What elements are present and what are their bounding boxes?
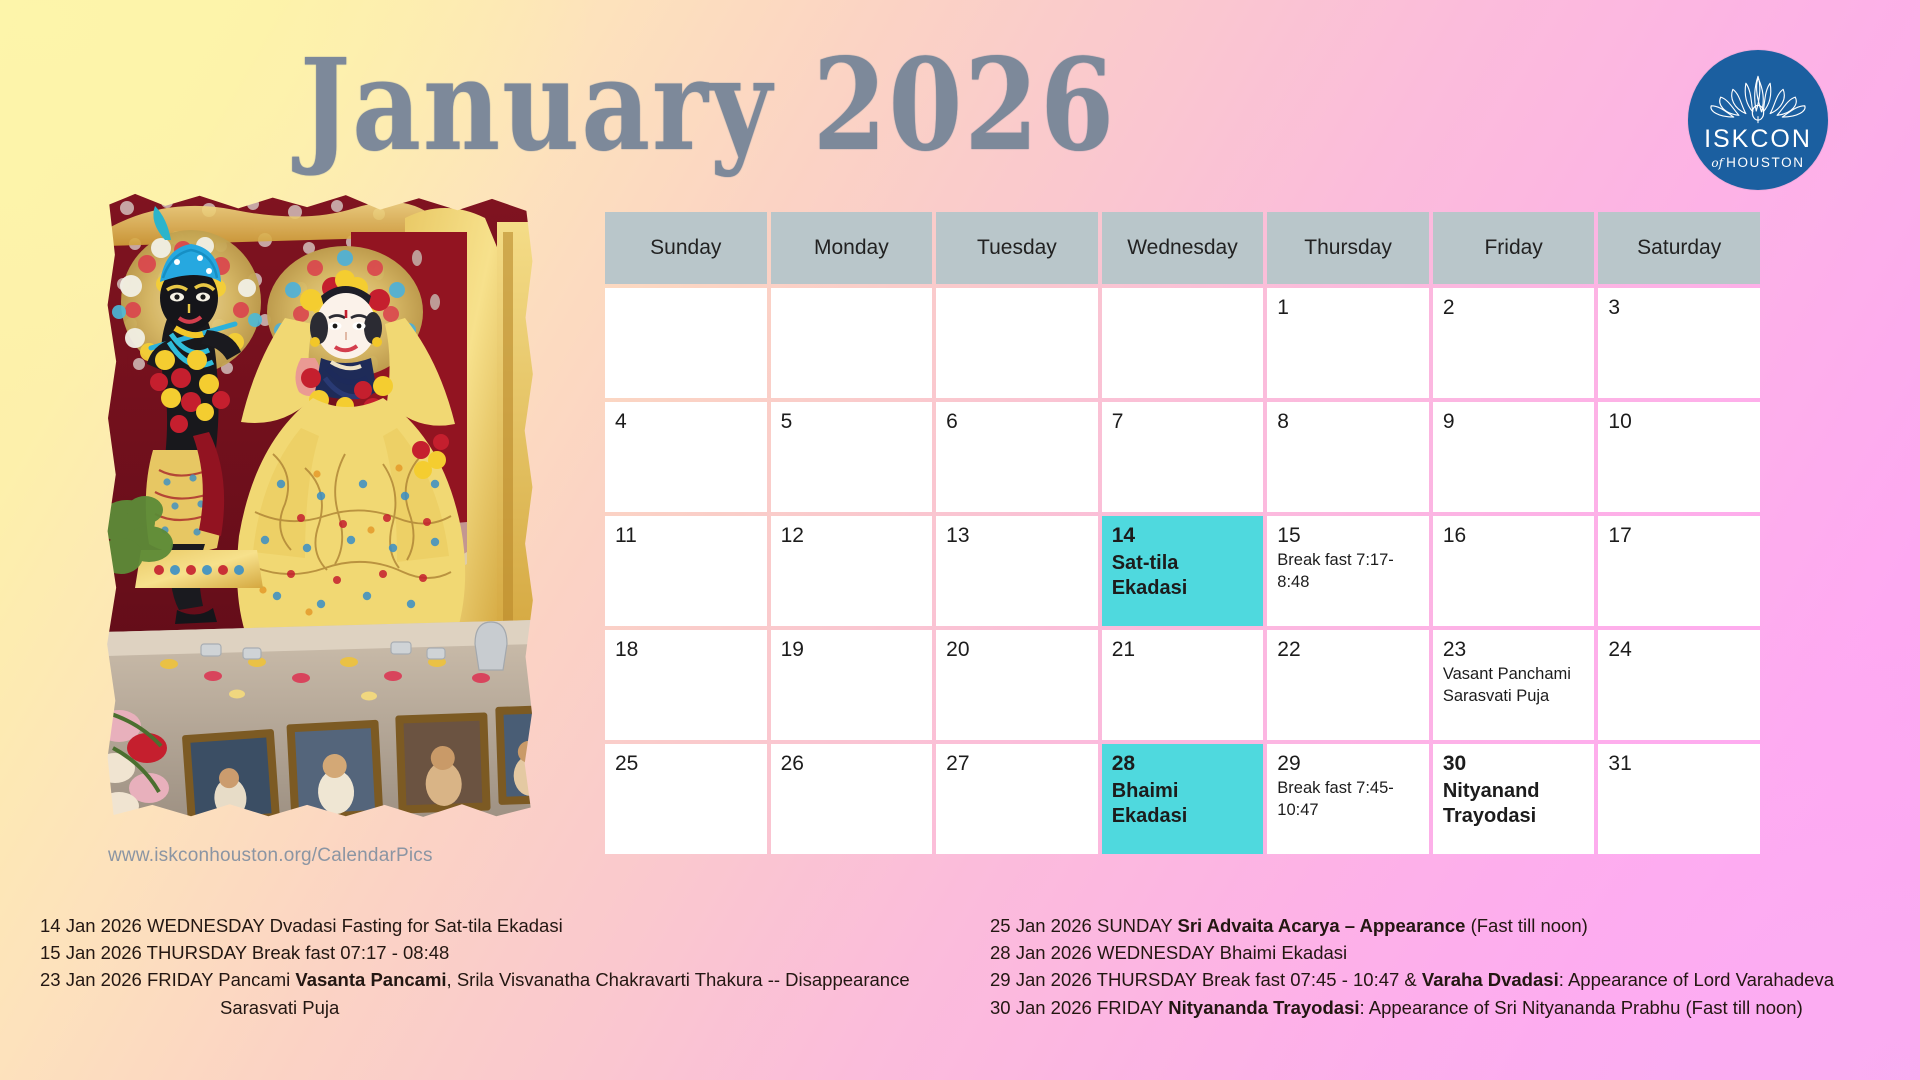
calendar-day-empty <box>1102 288 1264 398</box>
logo-brand-text: ISKCON <box>1704 127 1812 152</box>
iskcon-logo: ISKCON of HOUSTON <box>1688 50 1828 190</box>
note-line-left-3: 23 Jan 2026 FRIDAY Pancami Vasanta Panca… <box>40 966 950 993</box>
logo-of-text: of <box>1711 157 1723 169</box>
calendar-body: 1234567891011121314Sat-tilaEkadasi15Brea… <box>605 288 1760 854</box>
day-number: 9 <box>1443 410 1585 435</box>
calendar-day-4[interactable]: 4 <box>605 402 767 512</box>
calendar-day-empty <box>936 288 1098 398</box>
calendar-header-row: SundayMondayTuesdayWednesdayThursdayFrid… <box>605 212 1760 284</box>
lotus-icon <box>1706 71 1810 125</box>
calendar-day-5[interactable]: 5 <box>771 402 933 512</box>
day-event-text: NityanandTrayodasi <box>1443 779 1585 830</box>
day-number: 8 <box>1277 410 1419 435</box>
note-line-left-2: 15 Jan 2026 THURSDAY Break fast 07:17 - … <box>40 939 950 966</box>
calendar-week-row: 181920212223Vasant PanchamiSarasvati Puj… <box>605 630 1760 740</box>
day-number: 6 <box>946 410 1088 435</box>
calendar-day-6[interactable]: 6 <box>936 402 1098 512</box>
day-number: 12 <box>781 524 923 549</box>
calendar-day-1[interactable]: 1 <box>1267 288 1429 398</box>
day-number: 13 <box>946 524 1088 549</box>
notes-column-left: 14 Jan 2026 WEDNESDAY Dvadasi Fasting fo… <box>0 912 950 1021</box>
day-number: 26 <box>781 752 923 777</box>
day-number: 24 <box>1608 638 1750 663</box>
day-number: 31 <box>1608 752 1750 777</box>
calendar-day-17[interactable]: 17 <box>1598 516 1760 626</box>
day-number: 7 <box>1112 410 1254 435</box>
day-number: 28 <box>1112 752 1254 777</box>
day-number: 30 <box>1443 752 1585 777</box>
note-line-right-4: 30 Jan 2026 FRIDAY Nityananda Trayodasi:… <box>990 994 1920 1021</box>
day-number: 27 <box>946 752 1088 777</box>
calendar-day-10[interactable]: 10 <box>1598 402 1760 512</box>
day-number: 3 <box>1608 296 1750 321</box>
calendar-grid: SundayMondayTuesdayWednesdayThursdayFrid… <box>605 212 1760 858</box>
day-event-text: Vasant PanchamiSarasvati Puja <box>1443 664 1585 708</box>
day-event-text: Bhaimi Ekadasi <box>1112 779 1254 830</box>
calendar-day-26[interactable]: 26 <box>771 744 933 854</box>
calendar-day-15[interactable]: 15Break fast 7:17-8:48 <box>1267 516 1429 626</box>
logo-subtitle: of HOUSTON <box>1711 156 1804 170</box>
day-number: 14 <box>1112 524 1254 549</box>
calendar-day-empty <box>771 288 933 398</box>
calendar-day-2[interactable]: 2 <box>1433 288 1595 398</box>
note-line-right-2: 28 Jan 2026 WEDNESDAY Bhaimi Ekadasi <box>990 939 1920 966</box>
calendar-day-12[interactable]: 12 <box>771 516 933 626</box>
calendar-day-7[interactable]: 7 <box>1102 402 1264 512</box>
day-number: 17 <box>1608 524 1750 549</box>
weekday-header-wednesday: Wednesday <box>1102 212 1264 284</box>
deity-photo-image <box>105 192 535 820</box>
calendar-week-row: 25262728Bhaimi Ekadasi29Break fast 7:45-… <box>605 744 1760 854</box>
day-number: 29 <box>1277 752 1419 777</box>
calendar-day-20[interactable]: 20 <box>936 630 1098 740</box>
day-number: 5 <box>781 410 923 435</box>
day-number: 25 <box>615 752 757 777</box>
weekday-header-friday: Friday <box>1433 212 1595 284</box>
calendar-day-19[interactable]: 19 <box>771 630 933 740</box>
calendar-week-row: 11121314Sat-tilaEkadasi15Break fast 7:17… <box>605 516 1760 626</box>
calendar-day-23[interactable]: 23Vasant PanchamiSarasvati Puja <box>1433 630 1595 740</box>
note-line-left-1: 14 Jan 2026 WEDNESDAY Dvadasi Fasting fo… <box>40 912 950 939</box>
day-event-text: Sat-tilaEkadasi <box>1112 551 1254 602</box>
calendar-day-empty <box>605 288 767 398</box>
day-number: 16 <box>1443 524 1585 549</box>
day-number: 21 <box>1112 638 1254 663</box>
calendar-day-18[interactable]: 18 <box>605 630 767 740</box>
calendar-day-22[interactable]: 22 <box>1267 630 1429 740</box>
calendar-day-13[interactable]: 13 <box>936 516 1098 626</box>
day-number: 1 <box>1277 296 1419 321</box>
day-number: 11 <box>615 524 757 549</box>
calendar-notes: 14 Jan 2026 WEDNESDAY Dvadasi Fasting fo… <box>0 912 1920 1021</box>
calendar-week-row: 45678910 <box>605 402 1760 512</box>
notes-column-right: 25 Jan 2026 SUNDAY Sri Advaita Acarya – … <box>950 912 1920 1021</box>
day-number: 10 <box>1608 410 1750 435</box>
calendar-day-25[interactable]: 25 <box>605 744 767 854</box>
day-event-text: Break fast 7:45-10:47 <box>1277 778 1419 822</box>
calendar-week-row: 123 <box>605 288 1760 398</box>
weekday-header-saturday: Saturday <box>1598 212 1760 284</box>
day-event-text: Break fast 7:17-8:48 <box>1277 550 1419 594</box>
day-number: 23 <box>1443 638 1585 663</box>
calendar-day-16[interactable]: 16 <box>1433 516 1595 626</box>
day-number: 15 <box>1277 524 1419 549</box>
calendar-day-11[interactable]: 11 <box>605 516 767 626</box>
calendar-day-8[interactable]: 8 <box>1267 402 1429 512</box>
photo-caption-url[interactable]: www.iskconhouston.org/CalendarPics <box>108 845 433 867</box>
note-line-right-1: 25 Jan 2026 SUNDAY Sri Advaita Acarya – … <box>990 912 1920 939</box>
deity-photo <box>105 192 535 820</box>
calendar-day-21[interactable]: 21 <box>1102 630 1264 740</box>
weekday-header-sunday: Sunday <box>605 212 767 284</box>
day-number: 22 <box>1277 638 1419 663</box>
calendar-day-31[interactable]: 31 <box>1598 744 1760 854</box>
day-number: 20 <box>946 638 1088 663</box>
logo-city-text: HOUSTON <box>1726 156 1804 170</box>
calendar-day-3[interactable]: 3 <box>1598 288 1760 398</box>
calendar-day-29[interactable]: 29Break fast 7:45-10:47 <box>1267 744 1429 854</box>
calendar-day-24[interactable]: 24 <box>1598 630 1760 740</box>
day-number: 2 <box>1443 296 1585 321</box>
note-line-right-3: 29 Jan 2026 THURSDAY Break fast 07:45 - … <box>990 966 1920 993</box>
calendar-page: January 2026 ISKCON of HOUSTON <box>0 0 1920 1080</box>
day-number: 18 <box>615 638 757 663</box>
weekday-header-tuesday: Tuesday <box>936 212 1098 284</box>
day-number: 4 <box>615 410 757 435</box>
weekday-header-thursday: Thursday <box>1267 212 1429 284</box>
calendar-day-9[interactable]: 9 <box>1433 402 1595 512</box>
page-title: January 2026 <box>300 38 1116 171</box>
calendar-day-14[interactable]: 14Sat-tilaEkadasi <box>1102 516 1264 626</box>
note-line-left-4: Sarasvati Puja <box>40 994 950 1021</box>
calendar-day-28[interactable]: 28Bhaimi Ekadasi <box>1102 744 1264 854</box>
calendar-day-30[interactable]: 30NityanandTrayodasi <box>1433 744 1595 854</box>
weekday-header-monday: Monday <box>771 212 933 284</box>
day-number: 19 <box>781 638 923 663</box>
calendar-day-27[interactable]: 27 <box>936 744 1098 854</box>
